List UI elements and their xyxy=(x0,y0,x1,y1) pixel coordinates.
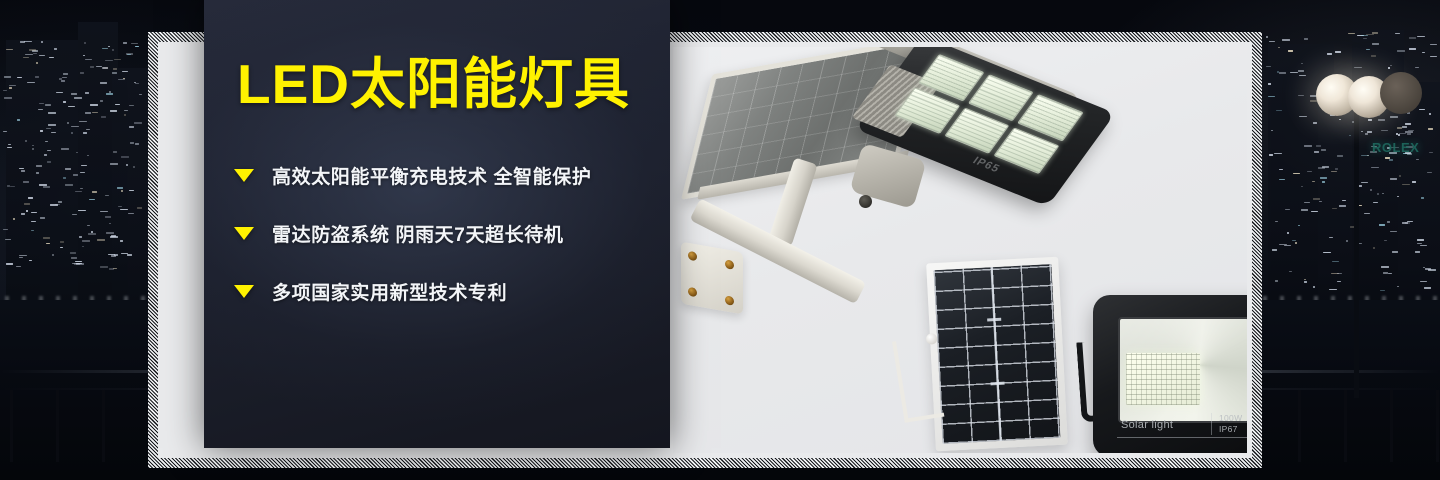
window-light xyxy=(101,116,106,118)
window-light xyxy=(105,216,111,218)
window-light xyxy=(100,100,103,102)
window-light xyxy=(1361,35,1368,36)
window-light xyxy=(51,132,56,133)
railing-post xyxy=(10,390,13,462)
window-light xyxy=(106,93,113,95)
window-light xyxy=(121,190,123,192)
railing-post xyxy=(1436,390,1439,462)
flood-light-body: Solar light 100W IP67 xyxy=(1093,295,1247,453)
window-light xyxy=(92,191,97,193)
window-light xyxy=(96,66,102,67)
window-light xyxy=(39,103,44,104)
street-lamp-icon xyxy=(1300,60,1440,400)
window-light xyxy=(1289,271,1292,272)
window-light xyxy=(1285,209,1290,210)
window-light xyxy=(4,76,11,78)
window-light xyxy=(82,246,84,247)
feature-list: 高效太阳能平衡充电技术 全智能保护 雷达防盗系统 阴雨天7天超长待机 多项国家实… xyxy=(234,160,654,306)
window-light xyxy=(84,42,86,44)
window-light xyxy=(13,218,15,220)
window-light xyxy=(1363,38,1367,39)
window-light xyxy=(118,79,125,80)
window-light xyxy=(135,83,139,84)
window-light xyxy=(89,199,95,200)
bracket-bolt xyxy=(688,287,697,298)
window-light xyxy=(135,143,139,145)
window-light xyxy=(52,254,54,256)
window-light xyxy=(63,101,66,103)
window-light xyxy=(126,164,128,166)
feature-text: 高效太阳能平衡充电技术 全智能保护 xyxy=(272,162,591,189)
triangle-down-icon xyxy=(234,227,254,240)
window-light xyxy=(1282,39,1290,41)
railing-post xyxy=(1390,390,1393,462)
window-light xyxy=(31,230,34,231)
window-light xyxy=(100,82,107,84)
window-light xyxy=(135,46,139,47)
window-light xyxy=(25,140,27,142)
window-light xyxy=(113,68,117,70)
feature-text: 多项国家实用新型技术专利 xyxy=(272,278,507,305)
window-light xyxy=(108,254,115,255)
window-light xyxy=(61,148,69,150)
window-light xyxy=(43,237,50,239)
window-light xyxy=(79,236,82,238)
window-light xyxy=(31,221,36,222)
window-light xyxy=(1371,55,1376,57)
window-light xyxy=(29,49,36,51)
window-light xyxy=(109,223,111,224)
window-light xyxy=(63,73,68,75)
flood-light-wattage: 100W xyxy=(1219,413,1242,424)
window-light xyxy=(1295,242,1297,244)
window-light xyxy=(48,124,56,126)
window-light xyxy=(1279,72,1286,74)
window-light xyxy=(124,110,128,111)
window-light xyxy=(1275,221,1278,222)
window-light xyxy=(1275,280,1278,282)
window-light xyxy=(71,257,77,259)
window-light xyxy=(79,121,87,122)
window-light xyxy=(29,260,32,261)
window-light xyxy=(128,213,134,214)
window-light xyxy=(58,201,62,203)
window-light xyxy=(68,106,75,107)
window-light xyxy=(3,131,7,132)
window-light xyxy=(10,186,15,187)
window-light xyxy=(1335,51,1341,53)
solar-panel-product xyxy=(926,257,1068,452)
window-light xyxy=(9,87,12,89)
window-light xyxy=(74,97,82,99)
window-light xyxy=(1409,48,1416,50)
window-light xyxy=(33,53,37,54)
product-photo-area: IP65 xyxy=(673,47,1247,453)
window-light xyxy=(1288,50,1293,52)
window-light xyxy=(85,59,92,60)
flood-light-spec-block: 100W IP67 xyxy=(1219,413,1242,435)
window-light xyxy=(6,263,13,265)
list-item: 高效太阳能平衡充电技术 全智能保护 xyxy=(234,160,654,190)
page-title: LED太阳能灯具 xyxy=(237,57,630,112)
street-light-radar-sensor xyxy=(859,195,872,208)
window-light xyxy=(1276,110,1282,111)
bracket-bolt xyxy=(725,259,734,270)
window-light xyxy=(1274,153,1282,154)
list-item: 多项国家实用新型技术专利 xyxy=(234,276,654,306)
window-light xyxy=(36,62,38,64)
window-light xyxy=(45,105,51,106)
window-light xyxy=(114,59,121,60)
window-light xyxy=(63,177,66,179)
window-light xyxy=(112,49,114,51)
window-light xyxy=(48,112,56,114)
window-light xyxy=(56,92,63,93)
window-light xyxy=(70,252,76,254)
lamp-globe-right xyxy=(1380,72,1422,114)
window-light xyxy=(110,110,117,112)
railing-post xyxy=(56,390,59,462)
flood-light-brand-text: Solar light xyxy=(1121,419,1173,431)
window-light xyxy=(1266,66,1271,67)
bracket-bolt xyxy=(725,295,734,306)
window-light xyxy=(16,266,21,267)
railing-post xyxy=(1298,390,1301,462)
window-light xyxy=(1292,240,1296,241)
window-light xyxy=(21,170,25,172)
triangle-down-icon xyxy=(234,285,254,298)
window-light xyxy=(54,48,57,50)
window-light xyxy=(72,263,79,264)
flood-light-product: Solar light 100W IP67 xyxy=(1093,295,1247,453)
window-light xyxy=(120,240,123,242)
window-light xyxy=(81,165,87,166)
flood-light-label-divider xyxy=(1211,413,1212,435)
window-light xyxy=(76,152,78,153)
window-light xyxy=(1348,33,1355,34)
window-light xyxy=(60,241,64,243)
window-light xyxy=(121,156,129,158)
flood-light-ip-rating: IP67 xyxy=(1219,424,1242,435)
window-light xyxy=(39,55,45,56)
window-light xyxy=(1304,38,1308,40)
window-light xyxy=(39,184,47,186)
window-light xyxy=(4,97,12,99)
railing-post xyxy=(102,390,105,462)
window-light xyxy=(7,147,12,148)
lamp-mast xyxy=(1354,98,1359,398)
window-light xyxy=(122,71,128,72)
window-light xyxy=(24,41,32,42)
window-light xyxy=(133,166,135,168)
window-light xyxy=(40,217,45,219)
window-light xyxy=(121,253,128,254)
window-light xyxy=(49,57,54,58)
window-light xyxy=(1269,154,1273,156)
window-light xyxy=(25,54,33,55)
window-light xyxy=(129,126,134,128)
window-light xyxy=(85,92,89,94)
list-item: 雷达防盗系统 阴雨天7天超长待机 xyxy=(234,218,654,248)
window-light xyxy=(41,41,43,43)
window-light xyxy=(1279,179,1285,180)
window-light xyxy=(62,77,67,78)
window-light xyxy=(1279,244,1287,245)
window-light xyxy=(23,57,29,58)
window-light xyxy=(67,122,69,124)
window-light xyxy=(105,195,109,196)
street-light-wall-bracket xyxy=(681,242,743,315)
window-light xyxy=(24,203,30,205)
window-light xyxy=(137,207,142,209)
window-light xyxy=(123,42,127,44)
window-light xyxy=(46,128,51,129)
window-light xyxy=(61,80,65,82)
window-light xyxy=(113,151,117,153)
window-light xyxy=(117,187,123,189)
bracket-bolt xyxy=(688,251,697,262)
window-light xyxy=(1430,56,1437,57)
window-light xyxy=(8,144,11,145)
window-light xyxy=(26,210,28,212)
window-light xyxy=(43,186,50,188)
window-light xyxy=(123,78,125,79)
flood-light-label-rule xyxy=(1117,437,1247,438)
window-light xyxy=(1327,53,1332,55)
window-light xyxy=(134,122,142,124)
window-light xyxy=(1268,83,1271,85)
headline-panel: LED太阳能灯具 高效太阳能平衡充电技术 全智能保护 雷达防盗系统 阴雨天7天超… xyxy=(204,0,670,448)
window-light xyxy=(120,209,128,210)
window-light xyxy=(109,268,114,270)
window-light xyxy=(100,266,108,268)
window-light xyxy=(110,163,118,165)
window-light xyxy=(23,181,29,183)
window-light xyxy=(80,188,83,189)
window-light xyxy=(82,240,90,242)
window-light xyxy=(28,197,33,199)
window-light xyxy=(87,155,89,156)
window-light xyxy=(90,66,94,68)
window-light xyxy=(65,168,71,170)
background-sign: ROLEX xyxy=(1372,140,1419,155)
flood-light-lens xyxy=(1118,317,1247,423)
window-light xyxy=(102,67,108,69)
window-light xyxy=(102,48,108,49)
window-light xyxy=(1269,41,1275,42)
window-light xyxy=(80,72,84,74)
window-light xyxy=(1366,49,1370,50)
window-light xyxy=(60,247,63,248)
window-light xyxy=(55,204,60,205)
window-light xyxy=(75,261,82,262)
window-light xyxy=(36,165,42,167)
window-light xyxy=(97,239,105,241)
window-light xyxy=(139,94,142,95)
window-light xyxy=(65,184,73,186)
window-light xyxy=(1266,36,1268,38)
railing-post xyxy=(1344,390,1347,462)
window-light xyxy=(75,191,82,192)
window-light xyxy=(17,77,22,78)
feature-text: 雷达防盗系统 阴雨天7天超长待机 xyxy=(272,220,563,247)
window-light xyxy=(72,214,77,215)
window-light xyxy=(32,148,34,150)
window-light xyxy=(1372,43,1379,45)
window-light xyxy=(71,126,79,127)
window-light xyxy=(118,206,122,207)
triangle-down-icon xyxy=(234,169,254,182)
window-light xyxy=(110,236,118,238)
flood-light-led-chip xyxy=(1126,353,1200,405)
promo-banner: ROLEX IP65 xyxy=(0,0,1440,480)
